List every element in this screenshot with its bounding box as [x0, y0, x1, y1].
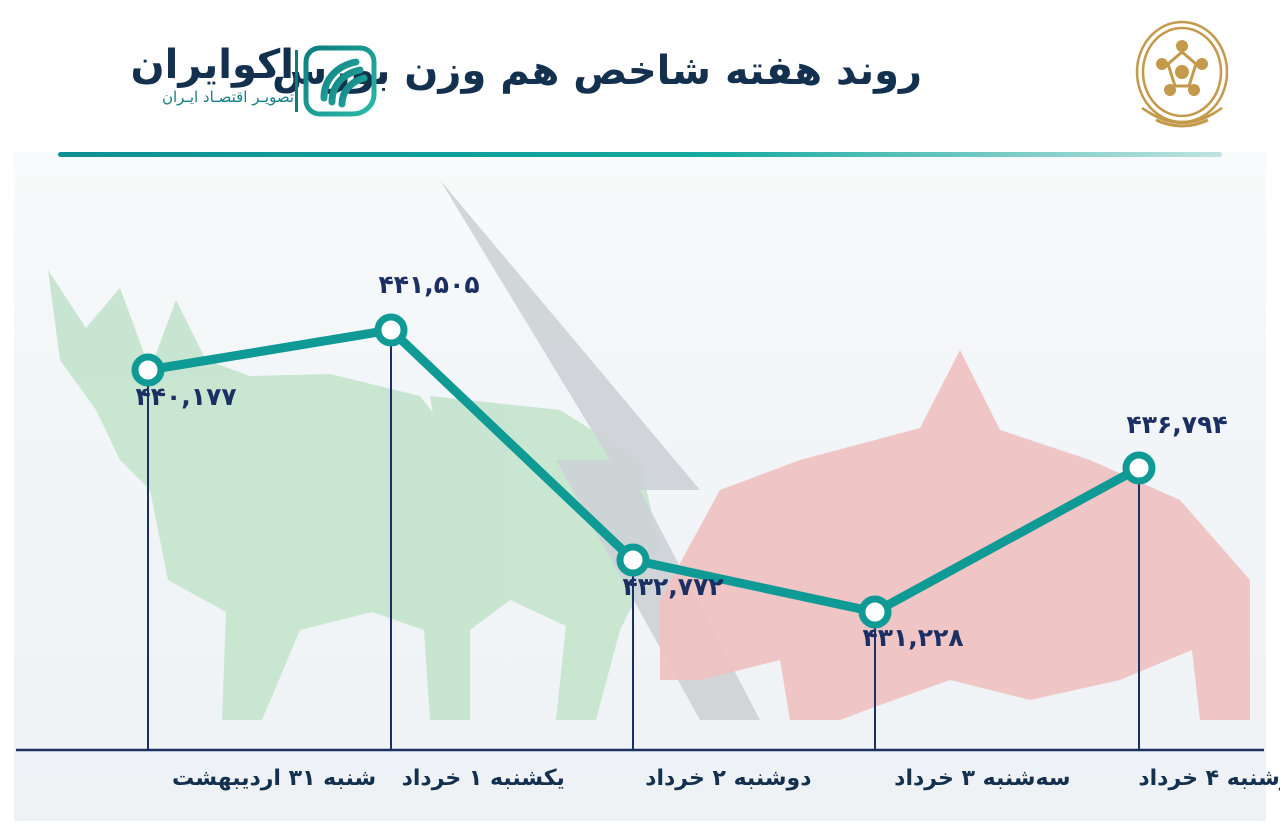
header-bar: روند هفته شاخص هم وزن بورس اکوایران تصوی…	[0, 0, 1280, 152]
eco-iran-logo-icon	[302, 44, 378, 118]
x-tick-label-4: چهارشنبه ۴ خرداد	[1138, 766, 1280, 791]
x-tick-label-3: سه‌شنبه ۳ خرداد	[894, 766, 1070, 791]
brand-divider	[295, 50, 298, 112]
infographic-page: روند هفته شاخص هم وزن بورس اکوایران تصوی…	[0, 0, 1280, 821]
data-label-1: ۴۴۱,۵۰۵	[379, 270, 480, 299]
brand-tagline: تصویـر اقتصـاد ایـران	[58, 88, 294, 106]
x-tick-label-0: شنبه ۳۱ اردیبهشت	[172, 766, 376, 791]
data-label-4: ۴۳۶,۷۹۴	[1127, 410, 1228, 439]
official-seal-icon	[1128, 16, 1236, 134]
x-tick-label-2: دوشنبه ۲ خرداد	[645, 766, 811, 791]
brand-name: اکوایران	[58, 44, 294, 86]
brand-logo: اکوایران تصویـر اقتصـاد ایـران	[58, 36, 388, 126]
data-label-3: ۴۳۱,۲۲۸	[863, 623, 964, 652]
data-label-0: ۴۴۰,۱۷۷	[136, 382, 237, 411]
x-tick-label-1: یکشنبه ۱ خرداد	[402, 766, 565, 791]
chart-container: ۴۴۰,۱۷۷ ۴۴۱,۵۰۵ ۴۳۲,۷۷۲ ۴۳۱,۲۲۸ ۴۳۶,۷۹۴ …	[0, 160, 1280, 821]
header-rule	[58, 152, 1222, 157]
brand-text: اکوایران تصویـر اقتصـاد ایـران	[58, 44, 294, 106]
data-label-2: ۴۳۲,۷۷۲	[623, 572, 724, 601]
category-tick-lines	[148, 330, 1139, 750]
line-chart-plot: ۴۴۰,۱۷۷ ۴۴۱,۵۰۵ ۴۳۲,۷۷۲ ۴۳۱,۲۲۸ ۴۳۶,۷۹۴ …	[0, 160, 1280, 821]
